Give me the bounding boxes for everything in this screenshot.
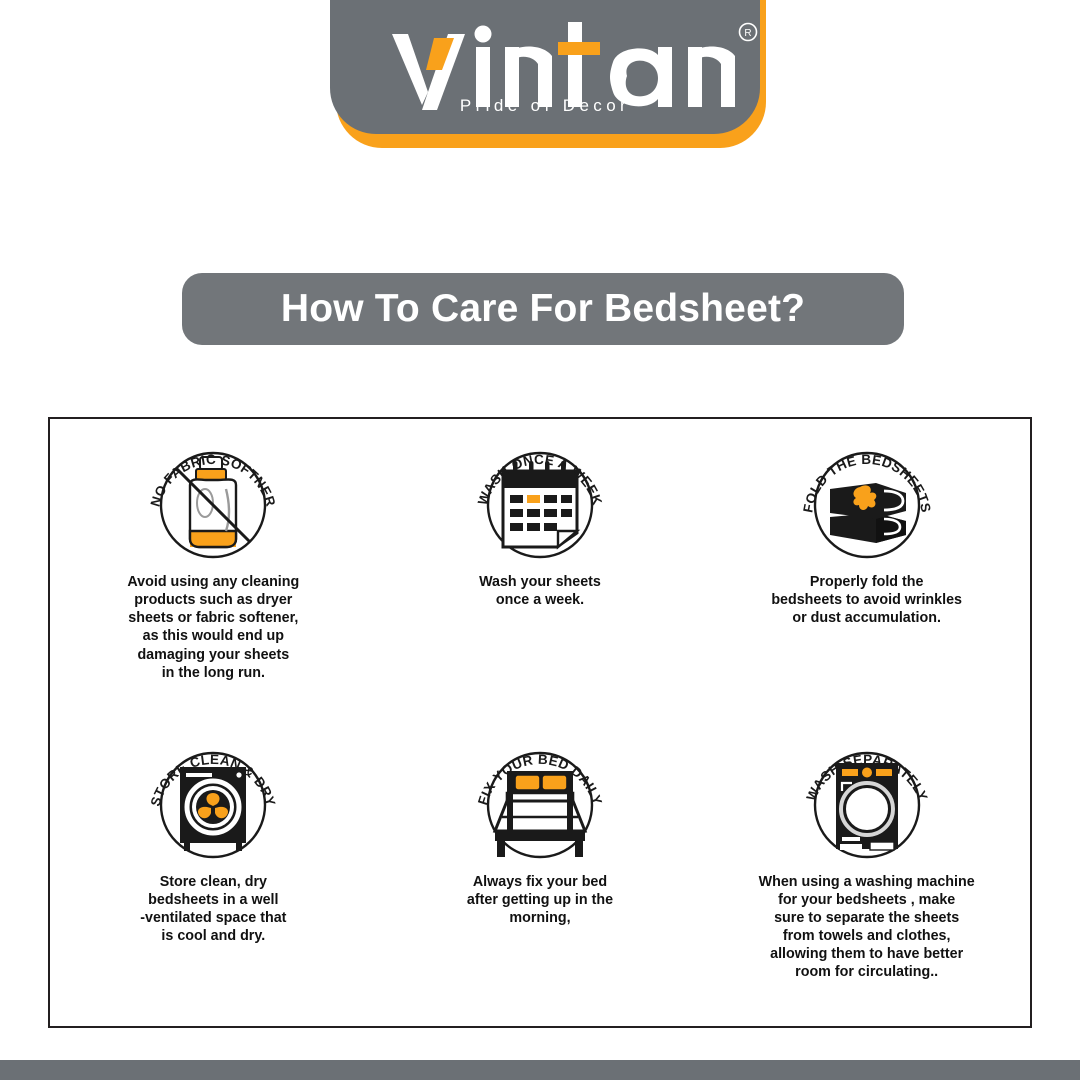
tips-frame: NO FABRIC SOFTNER Avoid using any cleani… <box>48 417 1032 1028</box>
page-title-banner: How To Care For Bedsheet? <box>182 273 904 345</box>
tip-caption: Properly fold the bedsheets to avoid wri… <box>747 573 987 627</box>
calendar-icon: WASH ONCE A WEEK <box>445 427 635 567</box>
tip-caption: Store clean, dry bedsheets in a well -ve… <box>93 873 333 946</box>
tip-caption: Always fix your bed after getting up in … <box>420 873 660 927</box>
tips-grid: NO FABRIC SOFTNER Avoid using any cleani… <box>50 419 1030 1026</box>
bed-icon: FIX YOUR BED DAILY <box>445 727 635 867</box>
brand-header: R Pride of Decor <box>330 0 760 148</box>
washing-machine-icon: WASH SEPARATELY <box>772 727 962 867</box>
tip-card-fold-the-bedsheets: FOLD THE BEDSHEETS Properly fold the bed… <box>703 419 1030 723</box>
no-fabric-softener-icon: NO FABRIC SOFTNER <box>118 427 308 567</box>
tip-card-wash-separately: WASH SEPARATELY When using a washing mac… <box>703 723 1030 1027</box>
svg-text:R: R <box>744 28 751 39</box>
dryer-icon: STORE CLEAN & DRY <box>118 727 308 867</box>
tip-caption: Avoid using any cleaning products such a… <box>93 573 333 682</box>
tip-caption: When using a washing machine for your be… <box>742 873 992 982</box>
tip-card-no-fabric-softener: NO FABRIC SOFTNER Avoid using any cleani… <box>50 419 377 723</box>
tip-card-wash-once-a-week: WASH ONCE A WEEK Wash your sheets once a… <box>377 419 704 723</box>
tip-card-fix-your-bed-daily: FIX YOUR BED DAILY Always fix your bed a… <box>377 723 704 1027</box>
tip-caption: Wash your sheets once a week. <box>420 573 660 609</box>
tip-card-store-clean-and-dry: STORE CLEAN & DRY Store clean, dry bedsh… <box>50 723 377 1027</box>
brand-tagline: Pride of Decor <box>330 96 760 116</box>
folded-bedsheets-icon: FOLD THE BEDSHEETS <box>772 427 962 567</box>
page-title: How To Care For Bedsheet? <box>281 287 805 331</box>
infographic-page: R Pride of Decor How To Care For Bedshee… <box>0 0 1080 1080</box>
footer-bar <box>0 1060 1080 1080</box>
